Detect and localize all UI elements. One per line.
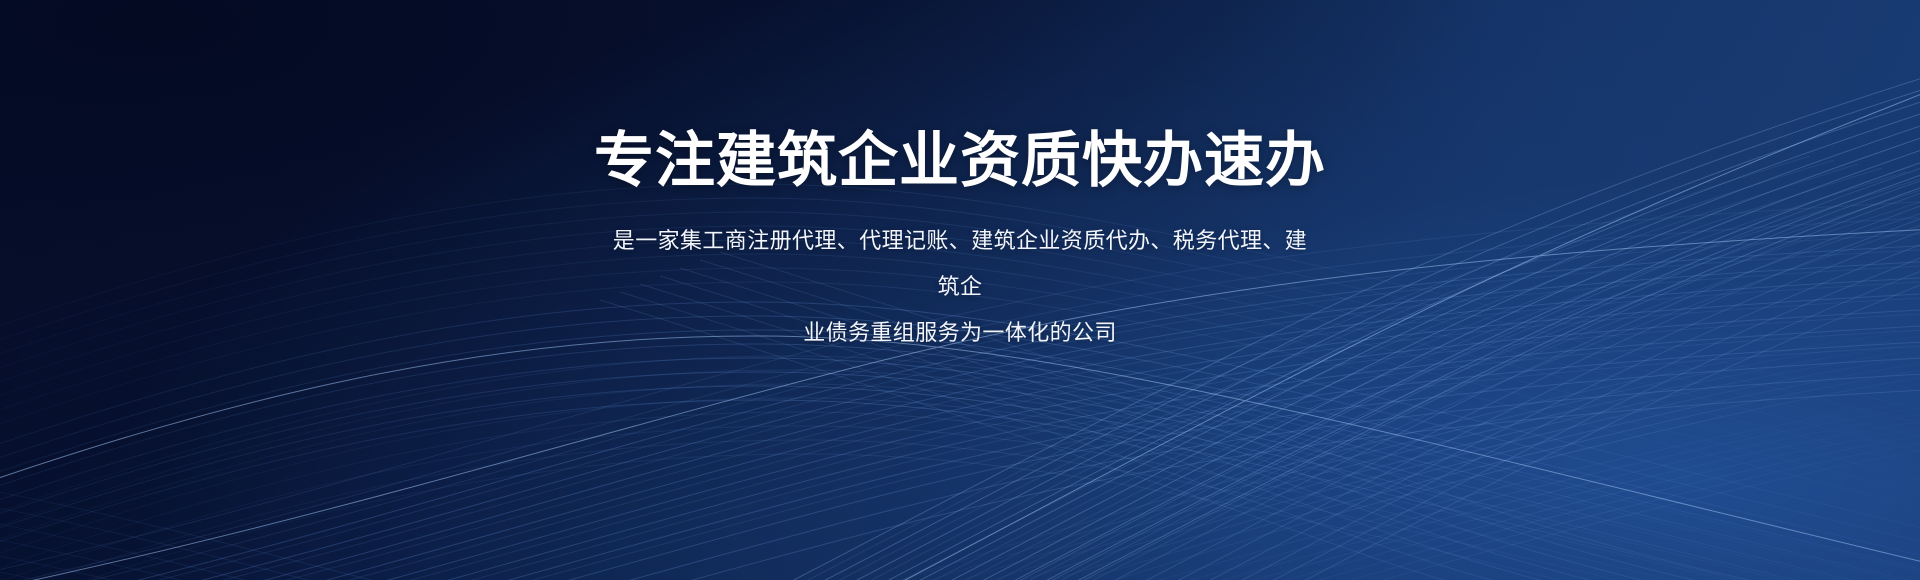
hero-subtitle-line-2: 业债务重组服务为一体化的公司 [602,310,1318,356]
hero-banner: 专注建筑企业资质快办速办 是一家集工商注册代理、代理记账、建筑企业资质代办、税务… [0,0,1920,580]
hero-subtitle: 是一家集工商注册代理、代理记账、建筑企业资质代办、税务代理、建筑企 业债务重组服… [602,218,1318,356]
page-title: 专注建筑企业资质快办速办 [594,126,1326,196]
hero-content: 专注建筑企业资质快办速办 是一家集工商注册代理、代理记账、建筑企业资质代办、税务… [0,0,1920,580]
hero-subtitle-line-1: 是一家集工商注册代理、代理记账、建筑企业资质代办、税务代理、建筑企 [602,218,1318,310]
